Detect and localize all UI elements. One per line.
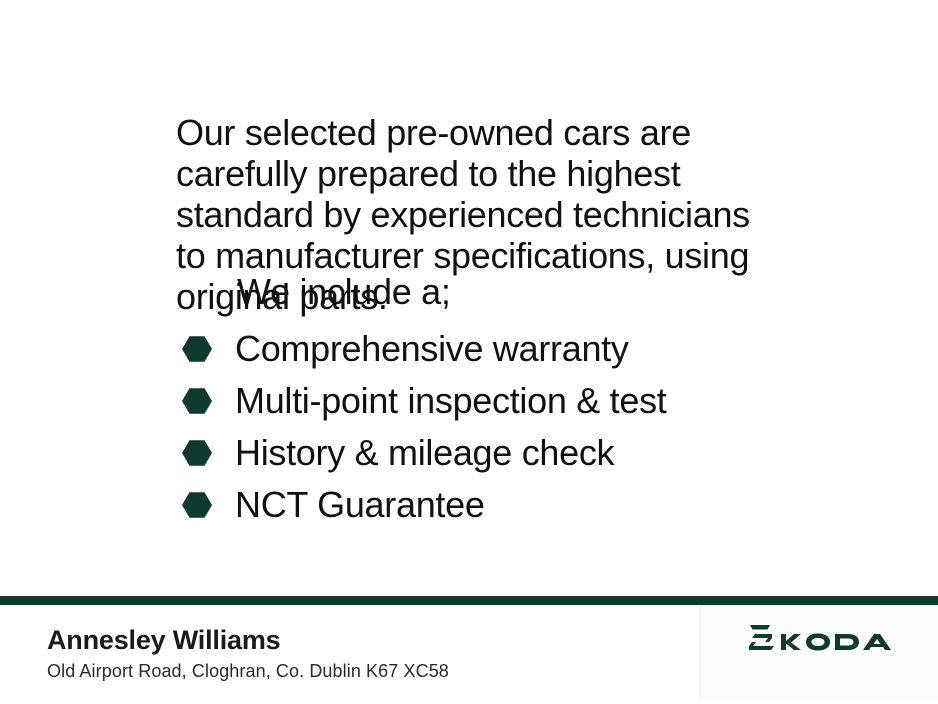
skoda-wordmark-logo [748, 624, 892, 658]
hexagon-bullet-icon [182, 336, 212, 363]
benefits-list: Comprehensive warranty Multi-point inspe… [182, 323, 667, 531]
list-item-label: Multi-point inspection & test [235, 381, 667, 421]
list-item-label: History & mileage check [235, 433, 614, 473]
list-item: History & mileage check [182, 427, 667, 479]
footer-divider-rule [0, 596, 938, 605]
list-item: NCT Guarantee [182, 479, 667, 531]
hexagon-bullet-icon [182, 492, 212, 519]
dealer-details: Annesley Williams Old Airport Road, Clog… [47, 624, 449, 682]
hexagon-bullet-icon [182, 388, 212, 415]
dealer-address: Old Airport Road, Cloghran, Co. Dublin K… [47, 660, 449, 682]
hexagon-bullet-icon [182, 440, 212, 467]
list-item-label: Comprehensive warranty [235, 329, 629, 369]
list-item: Comprehensive warranty [182, 323, 667, 375]
list-item: Multi-point inspection & test [182, 375, 667, 427]
list-item-label: NCT Guarantee [235, 485, 485, 525]
promo-slide: Our selected pre-owned cars are carefull… [0, 0, 938, 704]
dealer-name: Annesley Williams [47, 624, 449, 656]
include-heading: We include a; [237, 271, 451, 313]
